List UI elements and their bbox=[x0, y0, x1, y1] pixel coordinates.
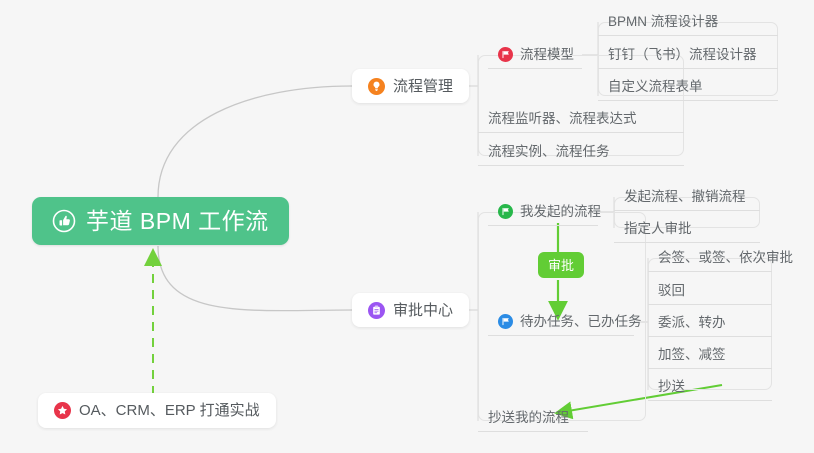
leaf-process-listener-expression[interactable]: 流程监听器、流程表达式 bbox=[478, 105, 684, 133]
branch-approval-center[interactable]: 审批中心 bbox=[352, 293, 469, 327]
leaf-dingtalk-feishu-designer[interactable]: 钉钉（飞书）流程设计器 bbox=[598, 41, 778, 69]
thumbs-up-icon bbox=[52, 209, 76, 233]
flag-icon bbox=[498, 204, 513, 219]
leaf-label: 我发起的流程 bbox=[520, 205, 601, 219]
leaf-label: 流程模型 bbox=[520, 48, 574, 62]
leaf-label: 自定义流程表单 bbox=[608, 80, 703, 94]
approval-annotation-badge: 审批 bbox=[538, 252, 584, 278]
leaf-process-model[interactable]: 流程模型 bbox=[488, 41, 582, 69]
branch-process-management[interactable]: 流程管理 bbox=[352, 69, 469, 103]
leaf-cc-to-me-process[interactable]: 抄送我的流程 bbox=[478, 404, 588, 432]
leaf-label: 抄送 bbox=[658, 380, 685, 394]
leaf-label: 流程实例、流程任务 bbox=[488, 145, 610, 159]
leaf-custom-process-form[interactable]: 自定义流程表单 bbox=[598, 73, 778, 101]
leaf-bpmn-designer[interactable]: BPMN 流程设计器 bbox=[598, 8, 778, 36]
badge-label: 审批 bbox=[548, 259, 574, 272]
leaf-label: BPMN 流程设计器 bbox=[608, 15, 718, 29]
leaf-label: 抄送我的流程 bbox=[488, 411, 569, 425]
root-node[interactable]: 芋道 BPM 工作流 bbox=[32, 197, 289, 245]
leaf-start-cancel-process[interactable]: 发起流程、撤销流程 bbox=[614, 183, 760, 211]
lightbulb-icon bbox=[368, 78, 385, 95]
leaf-delegate-transfer[interactable]: 委派、转办 bbox=[648, 309, 772, 337]
branch-label: 审批中心 bbox=[393, 303, 453, 318]
leaf-my-initiated-process[interactable]: 我发起的流程 bbox=[488, 198, 598, 226]
leaf-label: 驳回 bbox=[658, 284, 685, 298]
footer-note-card[interactable]: OA、CRM、ERP 打通实战 bbox=[38, 393, 276, 428]
clipboard-icon bbox=[368, 302, 385, 319]
leaf-reject[interactable]: 驳回 bbox=[648, 277, 772, 305]
leaf-process-instance-task[interactable]: 流程实例、流程任务 bbox=[478, 138, 684, 166]
root-label: 芋道 BPM 工作流 bbox=[86, 210, 269, 233]
leaf-countersign-orsign-sequential[interactable]: 会签、或签、依次审批 bbox=[648, 244, 772, 272]
branch-label: 流程管理 bbox=[393, 79, 453, 94]
leaf-label: 发起流程、撤销流程 bbox=[624, 190, 746, 204]
mindmap-canvas: 芋道 BPM 工作流 流程管理 流程模型 BPMN 流程设计器 钉钉（飞书）流程 bbox=[0, 0, 814, 453]
flag-icon bbox=[498, 314, 513, 329]
leaf-assigned-approval[interactable]: 指定人审批 bbox=[614, 215, 760, 243]
leaf-todo-done-tasks[interactable]: 待办任务、已办任务 bbox=[488, 308, 634, 336]
leaf-cc[interactable]: 抄送 bbox=[648, 373, 772, 401]
flag-icon bbox=[498, 47, 513, 62]
leaf-label: 加签、减签 bbox=[658, 348, 726, 362]
leaf-label: 钉钉（飞书）流程设计器 bbox=[608, 48, 757, 62]
footer-note-label: OA、CRM、ERP 打通实战 bbox=[79, 403, 260, 418]
leaf-add-remove-sign[interactable]: 加签、减签 bbox=[648, 341, 772, 369]
leaf-label: 待办任务、已办任务 bbox=[520, 315, 642, 329]
leaf-label: 指定人审批 bbox=[624, 222, 692, 236]
leaf-label: 委派、转办 bbox=[658, 316, 726, 330]
leaf-label: 流程监听器、流程表达式 bbox=[488, 112, 637, 126]
leaf-label: 会签、或签、依次审批 bbox=[658, 251, 793, 265]
star-icon bbox=[54, 402, 71, 419]
